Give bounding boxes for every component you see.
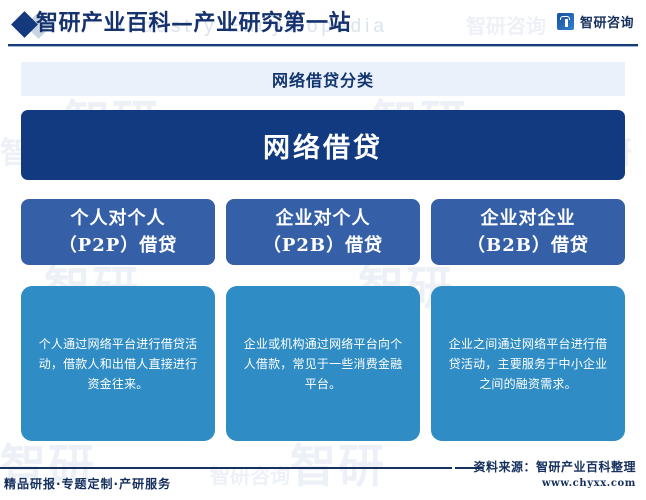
chart-title-text: 网络借贷分类 xyxy=(272,67,374,91)
description-text: 企业之间通过网络平台进行借贷活动，主要服务于中小企业之间的融资需求。 xyxy=(444,334,612,394)
description-text: 个人通过网络平台进行借贷活动，借款人和出借人直接进行资金往来。 xyxy=(34,334,202,394)
footer-slogan: 精品研报·专题定制·产研服务 xyxy=(4,475,171,492)
source-block: 资料来源：智研产业百科整理 www.chyxx.com xyxy=(473,458,636,489)
watermark-brand-full: 智研咨询 xyxy=(210,460,290,489)
source-text: 资料来源：智研产业百科整理 xyxy=(473,458,636,475)
zhiyan-logo-icon xyxy=(557,13,574,30)
column-p2p: 个人对个人 （P2P）借贷 个人通过网络平台进行借贷活动，借款人和出借人直接进行… xyxy=(21,199,215,441)
category-label-line1: 企业对个人 xyxy=(263,205,383,232)
header-divider-light xyxy=(8,46,638,47)
category-label-line2: （P2P）借贷 xyxy=(59,232,178,259)
description-box-b2b: 企业之间通过网络平台进行借贷活动，主要服务于中小企业之间的融资需求。 xyxy=(431,286,625,441)
description-text: 企业或机构通过网络平台向个人借款，常见于一些消费金融平台。 xyxy=(239,334,407,394)
brand-logo: 智研咨询 xyxy=(557,12,634,31)
column-b2b: 企业对企业 （B2B）借贷 企业之间通过网络平台进行借贷活动，主要服务于中小企业… xyxy=(431,199,625,441)
category-label-line1: 个人对个人 xyxy=(59,205,178,232)
category-label-line2: （B2B）借贷 xyxy=(467,232,589,259)
category-label-line1: 企业对企业 xyxy=(467,205,589,232)
category-box-b2b: 企业对企业 （B2B）借贷 xyxy=(431,199,625,265)
category-box-p2b: 企业对个人 （P2B）借贷 xyxy=(226,199,420,265)
brand-name: 智研咨询 xyxy=(580,12,634,31)
page-header: 智研产业百科—产业研究第一站 智研咨询 xyxy=(0,0,646,47)
category-label-line2: （P2B）借贷 xyxy=(263,232,383,259)
column-p2b: 企业对个人 （P2B）借贷 企业或机构通过网络平台向个人借款，常见于一些消费金融… xyxy=(226,199,420,441)
source-website: www.chyxx.com xyxy=(473,478,636,489)
description-box-p2b: 企业或机构通过网络平台向个人借款，常见于一些消费金融平台。 xyxy=(226,286,420,441)
chart-title-bar: 网络借贷分类 xyxy=(21,62,625,96)
footer-divider xyxy=(0,467,452,469)
description-box-p2p: 个人通过网络平台进行借贷活动，借款人和出借人直接进行资金往来。 xyxy=(21,286,215,441)
page-title: 智研产业百科—产业研究第一站 xyxy=(36,8,351,38)
root-node-label: 网络借贷 xyxy=(263,126,383,165)
category-box-p2p: 个人对个人 （P2P）借贷 xyxy=(21,199,215,265)
root-node: 网络借贷 xyxy=(21,110,625,180)
